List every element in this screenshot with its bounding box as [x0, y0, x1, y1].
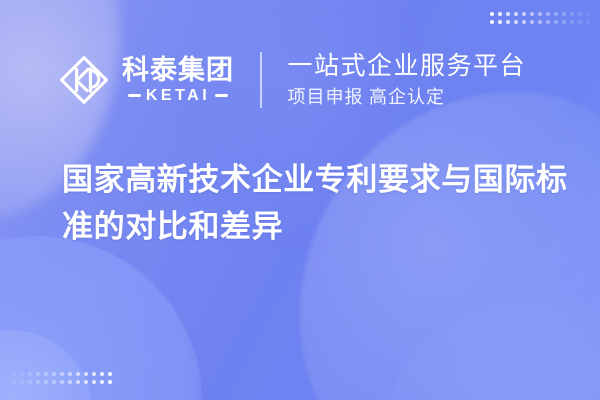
decorative-dot	[490, 20, 494, 24]
decorative-dot	[84, 380, 88, 384]
brand-name-cn: 科泰集团	[122, 56, 234, 84]
promo-banner: 科泰集团 KETAI 一站式企业服务平台 项目申报 高企认定 国家高新技术企业专…	[0, 0, 600, 400]
decorative-dot	[68, 372, 72, 376]
decorative-dot	[586, 20, 590, 24]
decorative-dot	[498, 12, 502, 16]
decorative-dot	[570, 12, 574, 16]
decorative-dot	[52, 372, 56, 376]
decorative-dot	[498, 20, 502, 24]
dash-rule-right-icon	[215, 94, 228, 97]
brand-logo-lockup[interactable]: 科泰集团 KETAI	[58, 54, 234, 106]
header-vertical-divider	[260, 52, 262, 108]
decorative-dot	[546, 12, 550, 16]
decorative-dot	[84, 372, 88, 376]
decorative-dot	[92, 380, 96, 384]
banner-header: 科泰集团 KETAI 一站式企业服务平台 项目申报 高企认定	[0, 44, 600, 116]
dot-grid-bottom-left	[12, 372, 116, 388]
decorative-dot	[506, 20, 510, 24]
page-title: 国家高新技术企业专利要求与国际标准的对比和差异	[62, 156, 570, 250]
decorative-blob-bottom-left	[0, 236, 202, 400]
decorative-dot	[562, 20, 566, 24]
decorative-dot	[108, 372, 112, 376]
decorative-dot	[100, 380, 104, 384]
tagline-secondary: 项目申报 高企认定	[288, 85, 527, 109]
decorative-dot	[12, 372, 16, 376]
decorative-dot	[578, 20, 582, 24]
decorative-dot	[562, 12, 566, 16]
brand-latin-row: KETAI	[128, 88, 228, 104]
decorative-dot	[530, 12, 534, 16]
brand-wordmark: 科泰集团 KETAI	[122, 56, 234, 103]
decorative-blob-bottom-right	[392, 300, 600, 400]
decorative-dot	[514, 12, 518, 16]
tagline-block: 一站式企业服务平台 项目申报 高企认定	[288, 51, 527, 109]
decorative-dot	[586, 12, 590, 16]
decorative-dot	[76, 372, 80, 376]
tagline-primary: 一站式企业服务平台	[288, 51, 527, 82]
decorative-blob-bottom-left-small	[0, 330, 93, 400]
decorative-dot	[522, 12, 526, 16]
decorative-dot	[554, 12, 558, 16]
decorative-dot	[530, 20, 534, 24]
decorative-dot	[578, 12, 582, 16]
decorative-dot	[44, 372, 48, 376]
decorative-dot	[60, 380, 64, 384]
decorative-dot	[522, 20, 526, 24]
decorative-dot	[28, 372, 32, 376]
decorative-dot	[554, 20, 558, 24]
decorative-dot	[100, 372, 104, 376]
dot-grid-top-right	[490, 12, 594, 28]
decorative-dot	[36, 380, 40, 384]
decorative-dot	[76, 380, 80, 384]
ketai-diamond-monogram-icon	[58, 54, 110, 106]
decorative-dot	[20, 372, 24, 376]
decorative-dot	[538, 20, 542, 24]
decorative-dot	[12, 380, 16, 384]
decorative-dot	[570, 20, 574, 24]
decorative-dot	[546, 20, 550, 24]
decorative-dot	[60, 372, 64, 376]
decorative-dot	[538, 12, 542, 16]
decorative-dot	[36, 372, 40, 376]
decorative-dot	[20, 380, 24, 384]
brand-name-latin: KETAI	[146, 88, 210, 104]
decorative-dot	[68, 380, 72, 384]
decorative-dot	[92, 372, 96, 376]
decorative-dot	[506, 12, 510, 16]
dash-rule-left-icon	[128, 94, 141, 97]
decorative-dot	[44, 380, 48, 384]
decorative-dot	[108, 380, 112, 384]
decorative-dot	[52, 380, 56, 384]
decorative-dot	[28, 380, 32, 384]
decorative-dot	[514, 20, 518, 24]
decorative-dot	[490, 12, 494, 16]
